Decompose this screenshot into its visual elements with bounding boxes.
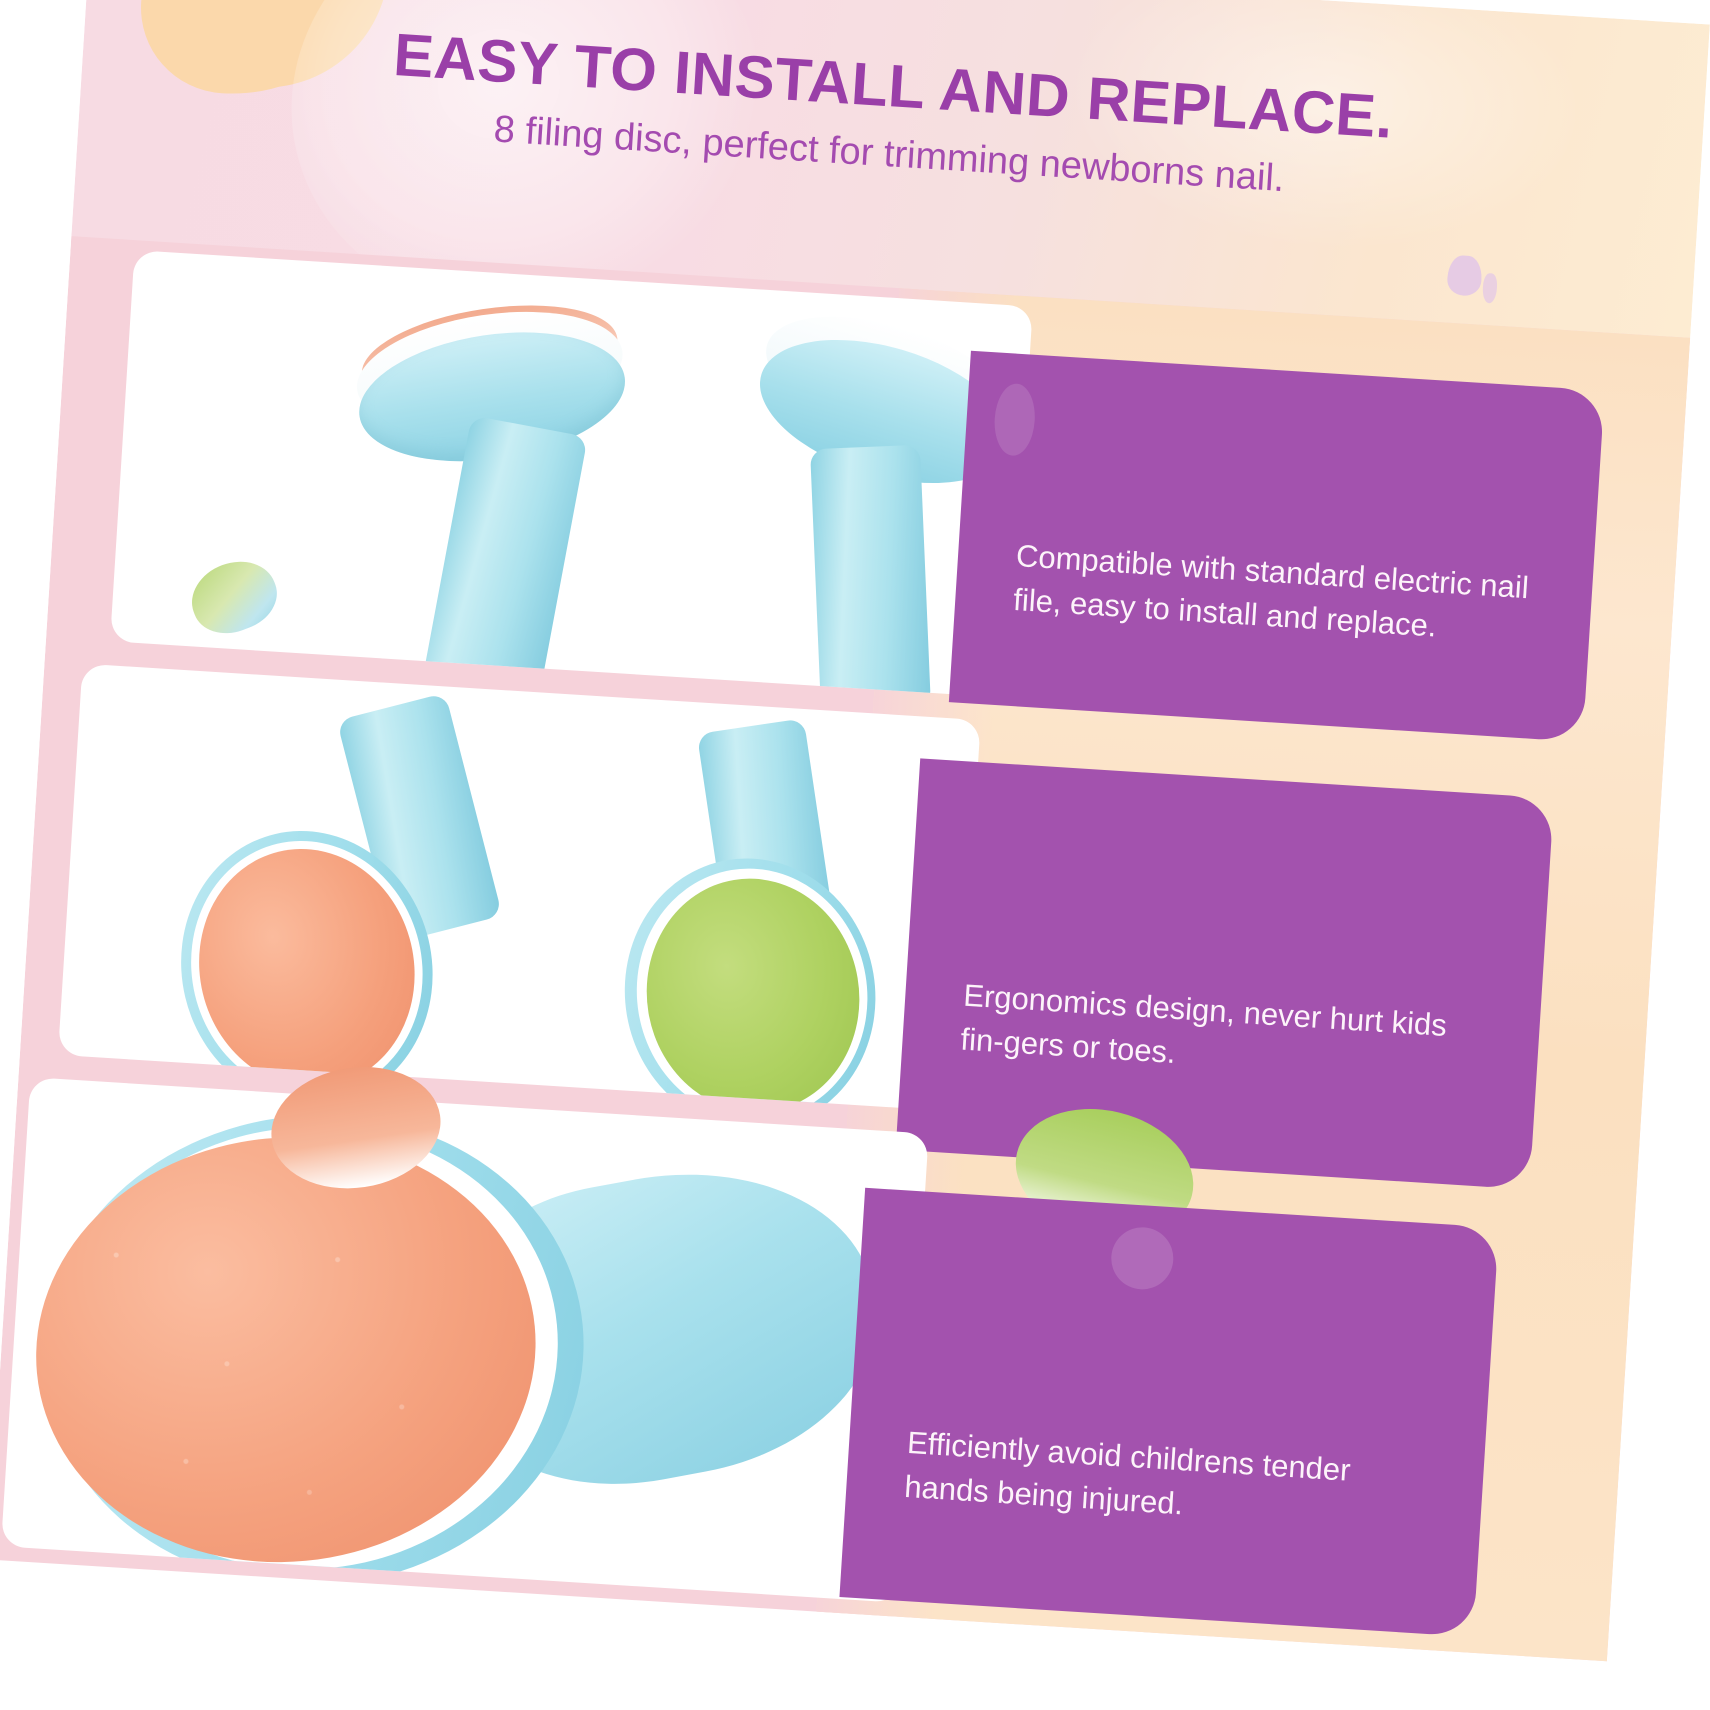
panel-circle-decoration [1109,1225,1175,1291]
infographic-canvas: EASY TO INSTALL AND REPLACE. 8 filing di… [0,0,1710,1710]
drip-decoration-small [1482,273,1498,304]
product-photo-card-3 [1,1077,929,1603]
product-photo-3 [1,1077,929,1603]
disc-shaft [810,445,931,698]
feature-text-ergonomics: Ergonomics design, never hurt kids fin-g… [959,974,1496,1095]
product-photo-card-2 [58,664,981,1112]
panel-highlight-decoration [992,382,1036,456]
product-photo-card-1 [110,250,1033,698]
product-infographic-poster: EASY TO INSTALL AND REPLACE. 8 filing di… [0,0,1710,1661]
feature-panel-compatibility: Compatible with standard electric nail f… [949,351,1605,742]
partial-green-disc-decoration [182,550,286,644]
feature-text-compatibility: Compatible with standard electric nail f… [1012,534,1549,655]
product-photo-1 [110,250,1033,698]
feature-panel-ergonomics: Ergonomics design, never hurt kids fin-g… [896,758,1554,1189]
feature-text-safety: Efficiently avoid childrens tender hands… [903,1421,1440,1542]
content-sheet: Compatible with standard electric nail f… [0,236,1690,1661]
drip-decoration [1446,255,1482,297]
feature-panel-safety: Efficiently avoid childrens tender hands… [839,1188,1498,1637]
product-photo-2 [58,664,981,1112]
